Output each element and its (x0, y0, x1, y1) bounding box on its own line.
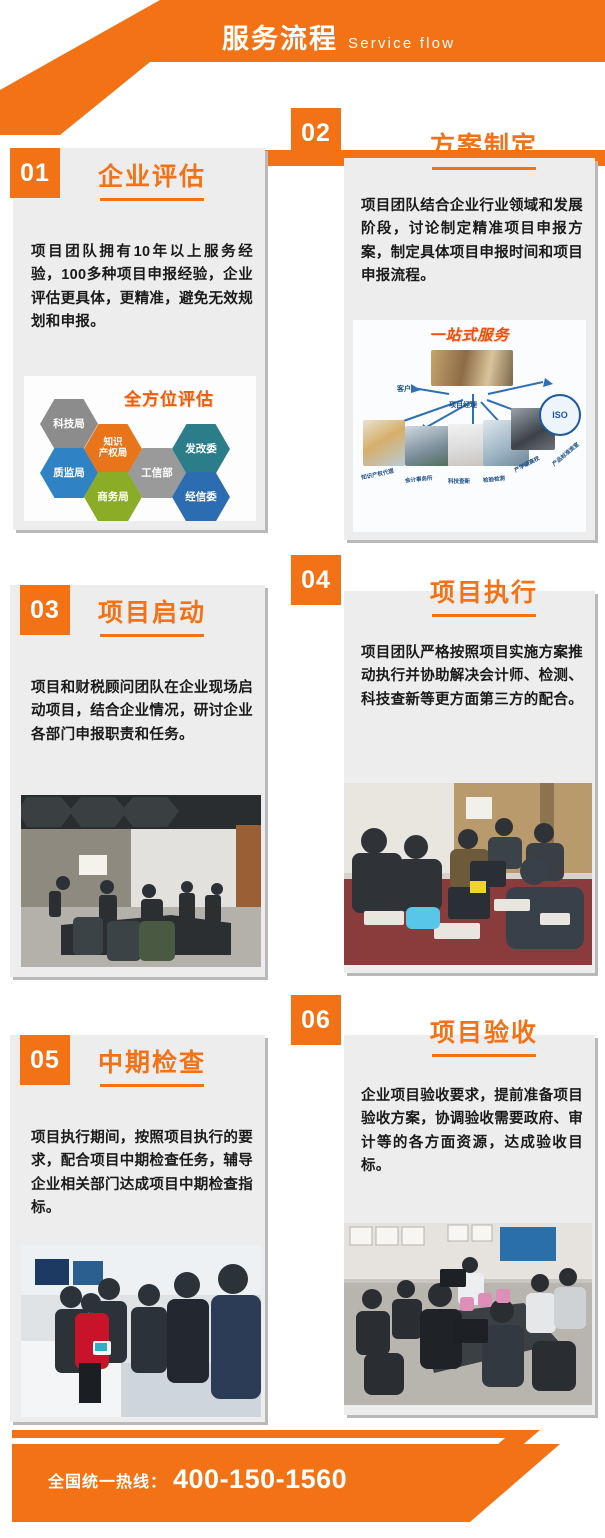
hex-node-label: 商务局 (97, 491, 129, 503)
page-title: 服务流程 Service flow (222, 26, 455, 53)
card-04-title: 项目执行 (430, 581, 538, 606)
card-04-number-badge: 04 (291, 555, 341, 605)
hex-node-label: 质监局 (53, 467, 85, 479)
card-06-number-badge: 06 (291, 995, 341, 1045)
card-01-title: 企业评估 (98, 165, 206, 190)
card-06[interactable]: 06 项目验收 企业项目验收要求，提前准备项目验收方案，协调验收需要政府、审计等… (291, 995, 601, 1425)
card-02-media: 一站式服务 (353, 320, 586, 532)
os-branch-label-2: 科技查新 (448, 477, 470, 485)
os-seal-icon: ISO (539, 394, 581, 436)
card-06-media (344, 1223, 592, 1405)
card-05-text: 项目执行期间，按照项目执行的要求，配合项目中期检查任务，辅导企业相关部门达成项目… (31, 1127, 253, 1221)
service-flow-page: 服务流程 Service flow 01 企业评估 项目团队拥有10年以上服务经… (0, 0, 605, 1538)
page-title-en: Service flow (348, 36, 455, 51)
card-02[interactable]: 02 方案制定 项目团队结合企业行业领域和发展阶段，讨论制定精准项目申报方案，制… (291, 108, 601, 538)
card-01-text: 项目团队拥有10年以上服务经验，100多种项目申报经验，企业评估更具体，更精准，… (31, 241, 253, 335)
hex-node-label: 知识产权局 (99, 438, 128, 460)
footer-hotline-label: 全国统一热线： (48, 1468, 167, 1492)
footer-hotline: 全国统一热线： 400-150-1560 (48, 1464, 347, 1495)
footer-hotline-number[interactable]: 400-150-1560 (173, 1464, 347, 1495)
card-02-number-badge: 02 (291, 108, 341, 158)
os-seal-label: ISO (552, 410, 568, 420)
card-05-number-badge: 05 (20, 1035, 70, 1085)
hex-node-label: 科技局 (53, 418, 85, 430)
card-01[interactable]: 01 企业评估 项目团队拥有10年以上服务经验，100多种项目申报经验，企业评估… (10, 148, 272, 538)
card-01-media: 全方位评估 科技局 知识产权局 发改委 质监局 工信部 商务局 经信委 (24, 376, 256, 521)
photo-conference (344, 1223, 592, 1405)
card-04-media (344, 783, 592, 965)
page-title-cn: 服务流程 (222, 26, 338, 53)
card-03[interactable]: 03 项目启动 项目和财税顾问团队在企业现场启动项目，结合企业情况，研讨企业各部… (10, 585, 272, 985)
hex-node-label: 经信委 (185, 491, 217, 503)
card-03-number-badge: 03 (20, 585, 70, 635)
card-03-text: 项目和财税顾问团队在企业现场启动项目，结合企业情况，研讨企业各部门申报职责和任务… (31, 677, 253, 747)
photo-working-table (344, 783, 592, 965)
hex-node-label: 工信部 (141, 467, 173, 479)
hex-diagram: 全方位评估 科技局 知识产权局 发改委 质监局 工信部 商务局 经信委 (24, 376, 256, 521)
card-04-text: 项目团队严格按照项目实施方案推动执行并协助解决会计师、检测、科技查新等更方面第三… (361, 642, 583, 712)
card-05-title: 中期检查 (98, 1051, 206, 1076)
hex-node-label: 发改委 (185, 443, 217, 455)
card-02-title: 方案制定 (430, 134, 538, 159)
photo-meeting-room (21, 795, 261, 967)
card-01-number-badge: 01 (10, 148, 60, 198)
os-label-manager: 项目经理 (449, 400, 477, 410)
card-05-media (21, 1245, 261, 1417)
hex-diagram-title: 全方位评估 (124, 385, 214, 410)
card-05[interactable]: 05 中期检查 项目执行期间，按照项目执行的要求，配合项目中期检查任务，辅导企业… (10, 1035, 272, 1430)
card-06-text: 企业项目验收要求，提前准备项目验收方案，协调验收需要政府、审计等的各方面资源，达… (361, 1085, 583, 1179)
card-04[interactable]: 04 项目执行 项目团队严格按照项目实施方案推动执行并协助解决会计师、检测、科技… (291, 555, 601, 985)
os-photo-search (448, 424, 488, 466)
one-stop-diagram: 一站式服务 (353, 320, 586, 532)
os-photo-accounting (405, 426, 449, 466)
footer-hotline-bar: 全国统一热线： 400-150-1560 (0, 1418, 605, 1538)
os-photo-ip (363, 420, 405, 466)
card-02-text: 项目团队结合企业行业领域和发展阶段，讨论制定精准项目申报方案，制定具体项目申报时… (361, 195, 583, 289)
card-06-title: 项目验收 (430, 1021, 538, 1046)
card-03-media (21, 795, 261, 967)
card-03-title: 项目启动 (98, 601, 206, 626)
photo-lobby-group (21, 1245, 261, 1417)
os-label-customer: 客户 (397, 384, 411, 394)
